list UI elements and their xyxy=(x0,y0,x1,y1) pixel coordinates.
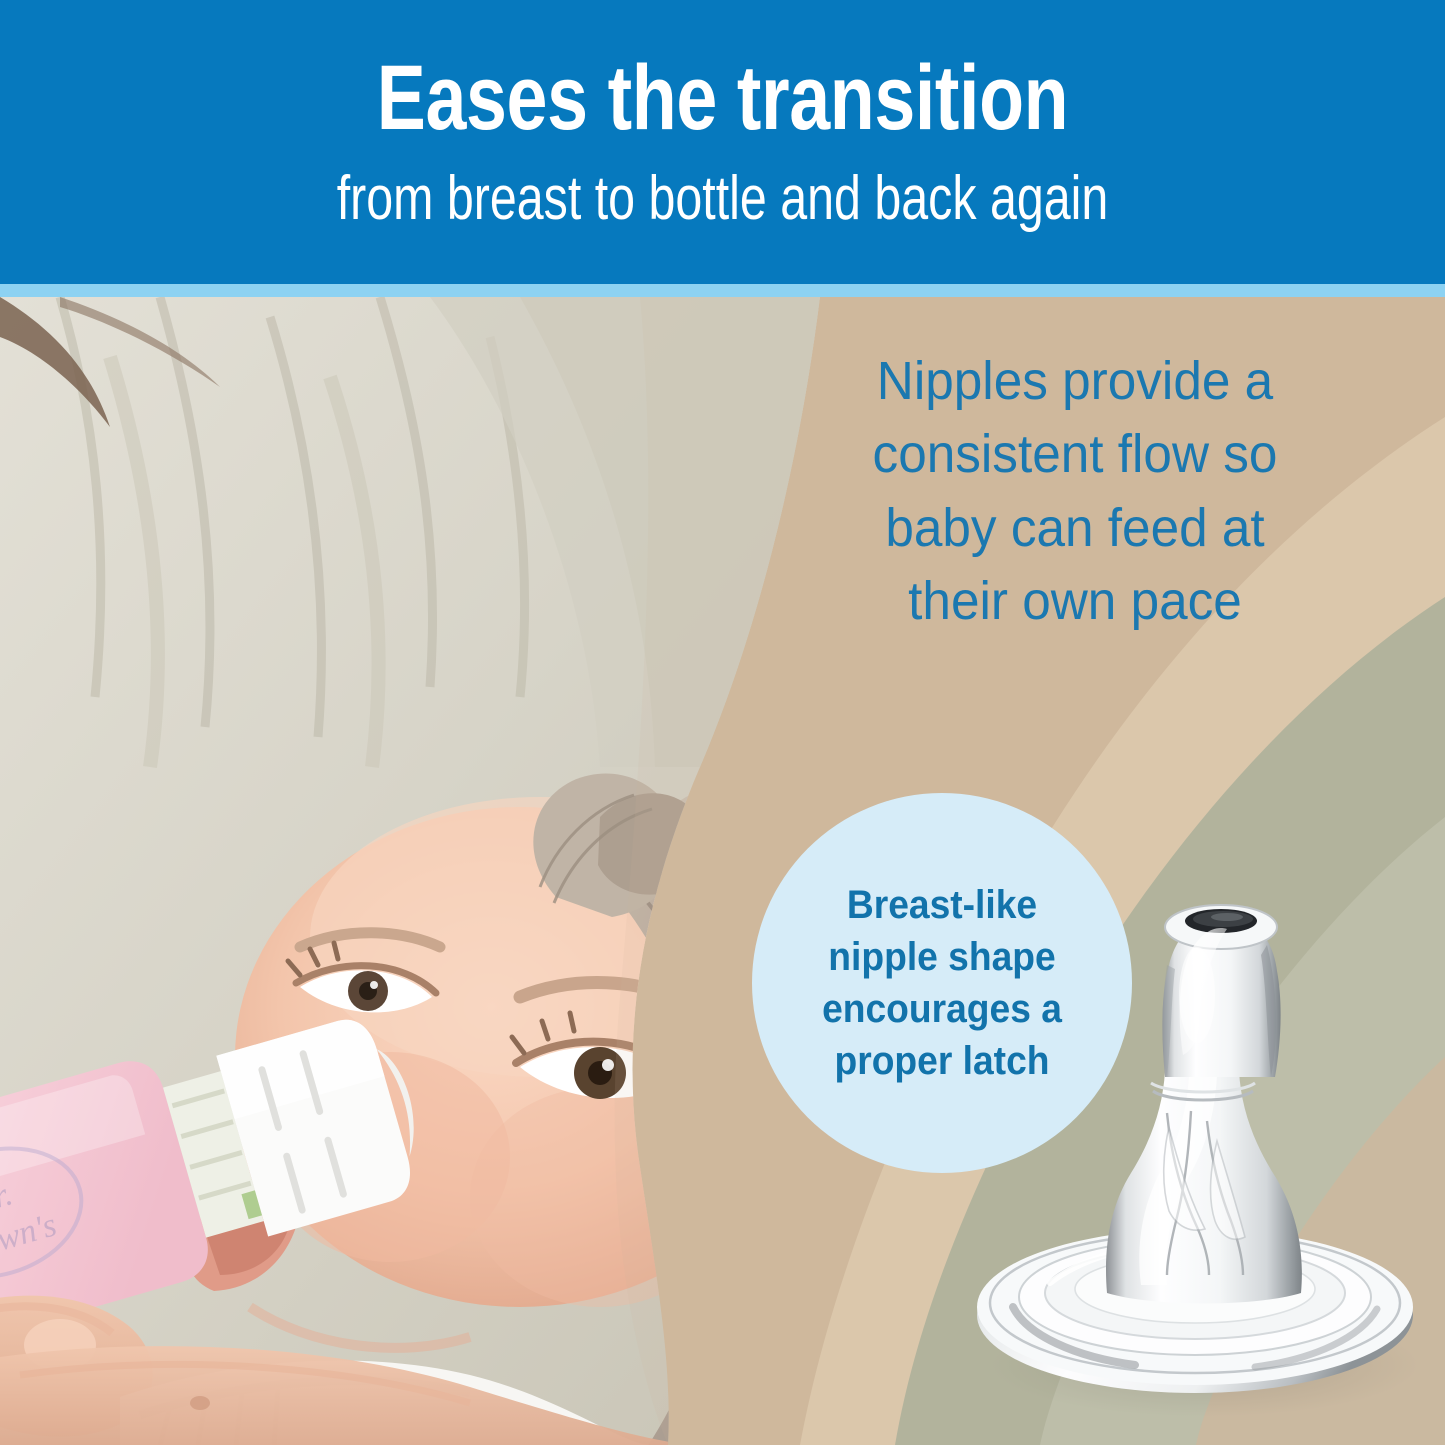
product-nipple-image xyxy=(955,845,1435,1445)
silicone-nipple-illustration xyxy=(955,845,1435,1445)
body-headline: Nipples provide a consistent flow so bab… xyxy=(785,345,1365,639)
page-subtitle: from breast to bottle and back again xyxy=(159,168,1286,230)
baby-feeding-illustration: Dr. Brown's xyxy=(0,297,900,1445)
page-title: Eases the transition xyxy=(145,52,1301,144)
baby-feeding-photo: Dr. Brown's xyxy=(0,297,900,1445)
product-feature-infographic: Dr. Brown's xyxy=(0,0,1445,1445)
header-accent-stripe xyxy=(0,284,1445,297)
